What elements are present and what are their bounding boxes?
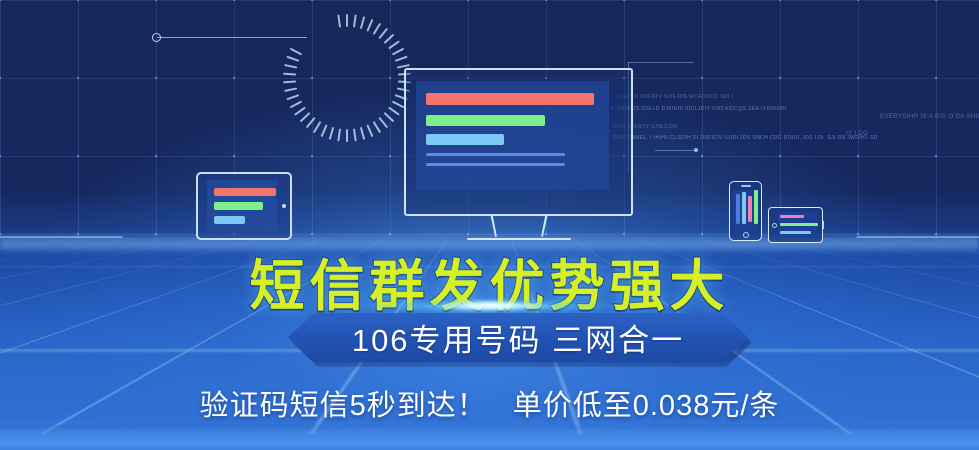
monitor-stand-base	[467, 238, 571, 240]
dial-tick	[353, 128, 357, 141]
dial-tick	[392, 48, 404, 56]
decor-text-line: EVERYDIHR IS A BIG O DA SHII	[880, 112, 979, 122]
dial-tick	[286, 56, 299, 62]
sms-marketing-banner: IUGH JI DSFSTV SJIEJDS WCAODCO SDI.I I. …	[0, 0, 979, 450]
dial-tick	[284, 87, 297, 92]
tablet-left-screen	[207, 180, 277, 232]
dial-tick	[313, 121, 321, 133]
phone-home-button-icon	[743, 232, 749, 238]
decor-text-line: IUGH JI DSFSTV SJIEJDS WCAODCO SDI.I	[618, 92, 733, 102]
dial-tick	[290, 48, 302, 56]
dial-tick	[283, 73, 296, 76]
dial-tick	[366, 19, 373, 32]
dial-tick	[388, 40, 400, 49]
radial-tick-dial-icon	[283, 14, 411, 142]
lens-flare-core	[442, 299, 538, 312]
dial-tick	[321, 124, 328, 137]
dial-tick	[378, 117, 388, 128]
subtitle-left: 验证码短信5秒到达！	[200, 390, 487, 422]
dial-tick	[373, 121, 381, 133]
subtitle: 验证码短信5秒到达！单价低至0.038元/条	[0, 382, 979, 424]
phone-content-bar	[748, 196, 752, 222]
dial-tick	[346, 14, 348, 27]
feature-ribbon: 106专用号码 三网合一	[288, 313, 748, 362]
tablet-content-bar	[214, 188, 276, 196]
decor-line	[655, 150, 695, 151]
dial-tick	[353, 14, 357, 27]
tablet-content-bar	[214, 202, 263, 210]
dial-tick	[360, 16, 365, 29]
tablet-right-content-bar	[780, 215, 804, 218]
connector-line	[157, 37, 307, 38]
subtitle-right: 单价低至0.038元/条	[513, 390, 780, 422]
dial-tick	[337, 128, 341, 141]
dial-tick	[286, 94, 299, 100]
dial-tick	[366, 124, 373, 137]
bottom-strip-upper	[0, 425, 979, 434]
dial-tick	[294, 107, 306, 116]
decor-text-line: DIXC TAMEL. I IHIHILCLSDIH DI DSFSTV SJI…	[613, 133, 878, 143]
phone-speaker-icon	[741, 185, 751, 187]
dial-tick	[373, 23, 381, 35]
dial-tick	[388, 107, 400, 116]
dial-tick	[284, 64, 297, 69]
dial-tick	[306, 117, 316, 128]
dial-tick	[283, 80, 296, 83]
dial-tick	[300, 112, 311, 122]
monitor-stand-neck	[490, 216, 547, 237]
monitor-screen	[416, 81, 609, 190]
tablet-side-button-icon	[822, 221, 824, 229]
tablet-right-content-bar	[780, 223, 818, 226]
monitor-content-bar	[426, 93, 594, 105]
dial-tick	[346, 129, 348, 142]
dial-tick	[392, 101, 404, 109]
tablet-home-button-icon	[282, 204, 286, 208]
tablet-camera-icon	[772, 223, 777, 228]
tablet-landscape-right	[768, 207, 823, 243]
decor-text-line: I. IHIHDJS DSFLD DJFIEHI SDILJDIY VWCAID…	[612, 104, 786, 114]
monitor-content-bar	[426, 115, 545, 126]
dial-tick	[384, 34, 395, 44]
tablet-right-content-bar	[780, 231, 811, 234]
dial-tick	[384, 112, 395, 122]
monitor-content-bar	[426, 163, 565, 166]
dial-tick	[360, 127, 365, 140]
phone-content-bar	[736, 194, 740, 224]
dial-tick	[290, 101, 302, 109]
bottom-strip	[0, 434, 979, 450]
tablet-content-bar	[214, 216, 245, 224]
monitor-content-bar	[426, 134, 504, 145]
desktop-monitor	[404, 68, 633, 240]
ribbon-label: 106专用号码 三网合一	[352, 315, 684, 360]
decor-line	[628, 62, 694, 63]
monitor-frame	[404, 68, 633, 216]
phone-content-bar	[754, 190, 758, 224]
decor-text-line: IY I DO	[846, 129, 868, 139]
dial-tick	[337, 14, 341, 27]
connector-node-icon	[152, 33, 161, 42]
dial-tick	[378, 28, 388, 39]
decor-dot	[694, 148, 698, 152]
smartphone	[729, 181, 762, 241]
tablet-right-screen	[778, 212, 817, 238]
tablet-portrait-left	[196, 172, 292, 240]
dial-tick	[395, 56, 408, 62]
dial-tick	[329, 127, 334, 140]
phone-content-bar	[742, 192, 746, 224]
phone-screen	[733, 190, 758, 231]
monitor-content-bar	[426, 153, 565, 156]
